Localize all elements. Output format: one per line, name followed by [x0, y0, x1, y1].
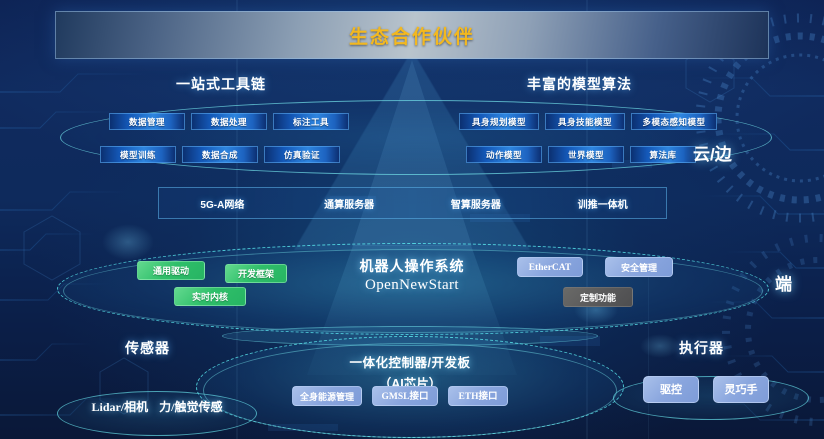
tag-model-training[interactable]: 模型训练	[100, 146, 176, 163]
actuator-heading: 执行器	[679, 338, 724, 358]
tag-realtime-kernel[interactable]: 实时内核	[174, 287, 246, 306]
sensor-item-lidar-camera[interactable]: Lidar/相机	[91, 400, 148, 414]
infra-item-general-compute-server[interactable]: 通算服务器	[286, 196, 413, 211]
tag-gmsl-interface[interactable]: GMSL接口	[372, 386, 438, 406]
tag-simulation-verify[interactable]: 仿真验证	[264, 146, 340, 163]
sensor-heading: 传感器	[125, 338, 170, 358]
tag-whole-body-power-management[interactable]: 全身能源管理	[292, 386, 362, 406]
tag-data-processing[interactable]: 数据处理	[191, 113, 267, 130]
tag-ethercat[interactable]: EtherCAT	[517, 257, 583, 277]
model-heading: 丰富的模型算法	[527, 74, 632, 94]
tag-multimodal-perception-model[interactable]: 多模态感知模型	[631, 113, 717, 130]
infra-item-train-infer-machine[interactable]: 训推一体机	[539, 196, 666, 211]
banner-title: 生态合作伙伴	[349, 22, 475, 49]
cloud-edge-label: 云/边	[693, 140, 732, 165]
infographic-canvas: 生态合作伙伴 一站式工具链 丰富的模型算法 数据管理 数据处理 标注工具 模型训…	[0, 0, 824, 439]
tag-safety-management[interactable]: 安全管理	[605, 257, 673, 277]
tag-algorithm-library[interactable]: 算法库	[630, 146, 696, 163]
tag-embodied-skill-model[interactable]: 具身技能模型	[545, 113, 625, 130]
tag-data-synthesis[interactable]: 数据合成	[182, 146, 258, 163]
actuator-item-dexterous-hand[interactable]: 灵巧手	[713, 376, 769, 403]
tag-action-model[interactable]: 动作模型	[466, 146, 542, 163]
tag-eth-interface[interactable]: ETH接口	[448, 386, 508, 406]
tag-dev-framework[interactable]: 开发框架	[225, 264, 287, 283]
sensor-items: Lidar/相机 力/触觉传感	[57, 398, 257, 415]
header-banner: 生态合作伙伴	[55, 11, 769, 59]
sensor-item-force-tactile[interactable]: 力/触觉传感	[159, 400, 222, 414]
tag-annotation-tool[interactable]: 标注工具	[273, 113, 349, 130]
infra-item-5ga[interactable]: 5G-A网络	[159, 196, 286, 211]
tag-world-model[interactable]: 世界模型	[548, 146, 624, 163]
toolchain-heading: 一站式工具链	[176, 74, 266, 94]
tag-embodied-planning-model[interactable]: 具身规划模型	[459, 113, 539, 130]
actuator-item-drive-control[interactable]: 驱控	[643, 376, 699, 403]
infra-item-ai-compute-server[interactable]: 智算服务器	[413, 196, 540, 211]
tag-general-driver[interactable]: 通用驱动	[137, 261, 205, 280]
tag-custom-function[interactable]: 定制功能	[563, 287, 633, 307]
edge-label: 端	[775, 270, 792, 295]
tag-data-management[interactable]: 数据管理	[109, 113, 185, 130]
infrastructure-row: 5G-A网络 通算服务器 智算服务器 训推一体机	[158, 187, 667, 219]
